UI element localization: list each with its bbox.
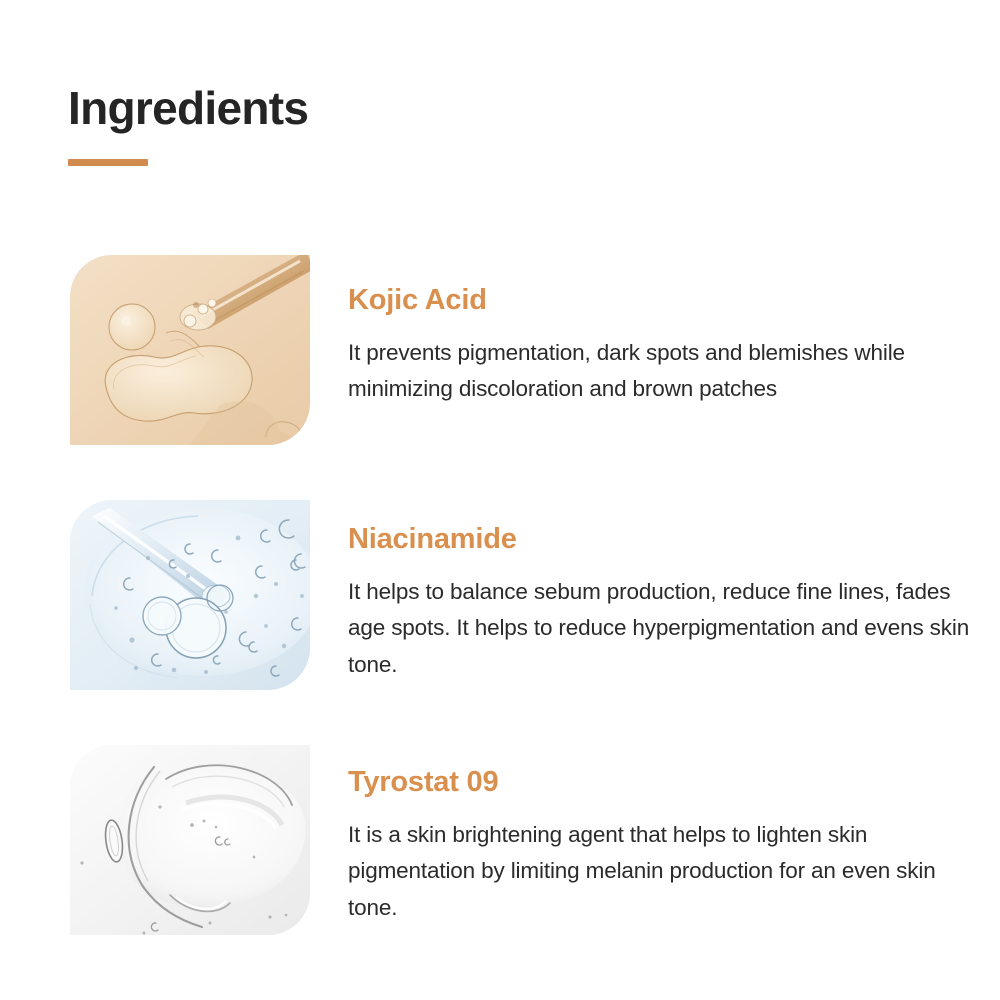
ingredient-item: Tyrostat 09 It is a skin brightening age… — [0, 745, 1000, 935]
ingredient-item: Kojic Acid It prevents pigmentation, dar… — [0, 255, 1000, 445]
ingredient-list: Kojic Acid It prevents pigmentation, dar… — [0, 255, 1000, 990]
ingredient-image-kojic-acid — [70, 255, 310, 445]
page-title: Ingredients — [68, 84, 308, 132]
ingredient-name: Tyrostat 09 — [348, 767, 972, 799]
ingredient-name: Kojic Acid — [348, 285, 972, 317]
ingredient-image-niacinamide — [70, 500, 310, 690]
serum-dropper-beige-icon — [70, 255, 310, 445]
title-underline-rule — [68, 159, 148, 166]
blue-gel-bubbles-icon — [70, 500, 310, 690]
ingredients-page: Ingredients — [0, 0, 1000, 1000]
header: Ingredients — [68, 84, 308, 166]
ingredient-name: Niacinamide — [348, 524, 972, 556]
ingredient-text: Kojic Acid It prevents pigmentation, dar… — [310, 255, 1000, 408]
clear-gel-swatch-icon — [70, 745, 310, 935]
ingredient-description: It prevents pigmentation, dark spots and… — [348, 335, 972, 408]
ingredient-text: Niacinamide It helps to balance sebum pr… — [310, 500, 1000, 683]
ingredient-image-tyrostat-09 — [70, 745, 310, 935]
ingredient-description: It helps to balance sebum production, re… — [348, 574, 972, 683]
ingredient-text: Tyrostat 09 It is a skin brightening age… — [310, 745, 1000, 926]
ingredient-item: Niacinamide It helps to balance sebum pr… — [0, 500, 1000, 690]
ingredient-description: It is a skin brightening agent that help… — [348, 817, 972, 926]
